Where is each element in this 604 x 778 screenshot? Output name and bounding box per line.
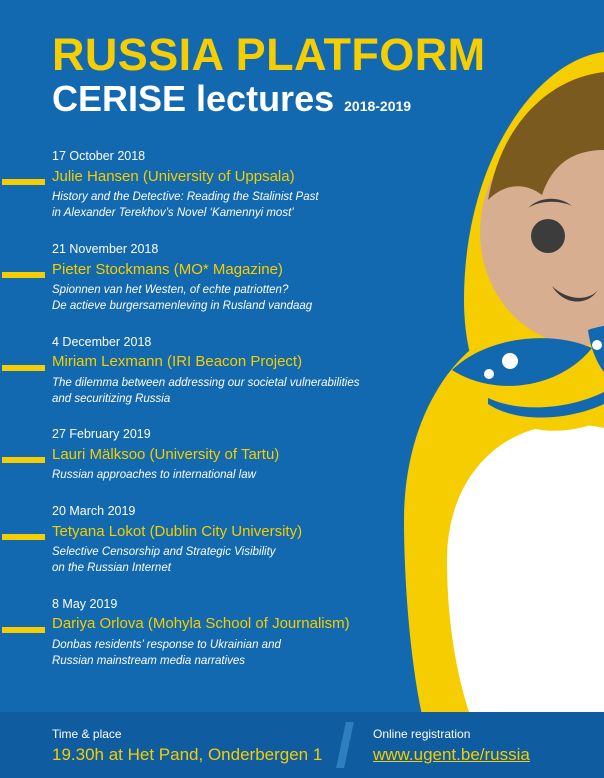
doll-body-shape [404,323,604,715]
lecture-date: 20 March 2019 [52,503,420,520]
lecture-date: 17 October 2018 [52,148,420,165]
lecture-speaker: Julie Hansen (University of Uppsala) [52,167,420,187]
doll-belly-panel [447,425,604,715]
doll-leaf-dot [484,369,494,379]
list-item: 8 May 2019 Dariya Orlova (Mohyla School … [0,596,420,670]
list-item: 21 November 2018 Pieter Stockmans (MO* M… [0,241,420,315]
registration-link[interactable]: www.ugent.be/russia [373,744,530,766]
lecture-date: 4 December 2018 [52,334,420,351]
time-and-place-block: Time & place 19.30h at Het Pand, Onderbe… [52,726,322,766]
lecture-speaker: Pieter Stockmans (MO* Magazine) [52,260,420,280]
lecture-date: 27 February 2019 [52,426,420,443]
slash-divider-icon [336,722,354,768]
doll-scarf-drape [464,290,604,431]
lecture-topic-line2: and securitizing Russia [52,391,420,407]
doll-leaf-motif-right [588,326,604,372]
doll-leaf-dot [592,340,602,350]
lecture-topic-line1: The dilemma between addressing our socie… [52,375,420,391]
list-item: 20 March 2019 Tetyana Lokot (Dublin City… [0,503,420,577]
doll-eyebrow [528,199,572,208]
doll-hair [488,72,604,200]
lecture-topic-line2: in Alexander Terekhov’s Novel ‘Kamennyi … [52,205,420,221]
subtitle-row: CERISE lectures 2018-2019 [52,80,452,118]
bullet-dash-icon [2,365,45,371]
page-subtitle: CERISE lectures [52,80,334,118]
bullet-dash-icon [2,272,45,278]
doll-mouth [552,286,598,302]
registration-label: Online registration [373,726,530,743]
doll-face [480,119,604,345]
doll-leaf-motif-left [452,338,592,386]
list-item: 27 February 2019 Lauri Mälksoo (Universi… [0,426,420,483]
lecture-topic-line2: De actieve burgersamenleving in Rusland … [52,298,420,314]
poster-canvas: RUSSIA PLATFORM CERISE lectures 2018-201… [0,0,604,778]
lecture-topic-line1: Donbas residents’ response to Ukrainian … [52,637,420,653]
poster-header: RUSSIA PLATFORM CERISE lectures 2018-201… [52,32,452,118]
lecture-topic-line1: Spionnen van het Westen, of echte patrio… [52,282,420,298]
season-years-badge: 2018-2019 [344,98,411,114]
poster-footer: Time & place 19.30h at Het Pand, Onderbe… [0,712,604,778]
list-item: 4 December 2018 Miriam Lexmann (IRI Beac… [0,334,420,408]
lecture-date: 8 May 2019 [52,596,420,613]
list-item: 17 October 2018 Julie Hansen (University… [0,148,420,222]
lecture-topic-line1: History and the Detective: Reading the S… [52,189,420,205]
bullet-dash-icon [2,627,45,633]
lecture-speaker: Miriam Lexmann (IRI Beacon Project) [52,352,420,372]
lecture-speaker: Lauri Mälksoo (University of Tartu) [52,445,420,465]
registration-block: Online registration www.ugent.be/russia [373,726,530,766]
lecture-topic-line1: Selective Censorship and Strategic Visib… [52,544,420,560]
doll-eye [531,219,565,253]
bullet-dash-icon [2,534,45,540]
lecture-speaker: Tetyana Lokot (Dublin City University) [52,522,420,542]
time-place-value: 19.30h at Het Pand, Onderbergen 1 [52,744,322,766]
doll-headscarf [464,52,604,300]
time-place-label: Time & place [52,726,322,743]
lecture-topic-line2: Russian mainstream media narratives [52,653,420,669]
lecture-speaker: Dariya Orlova (Mohyla School of Journali… [52,614,420,634]
bullet-dash-icon [2,179,45,185]
lecture-topic-line2: on the Russian Internet [52,560,420,576]
page-title: RUSSIA PLATFORM [52,32,452,78]
lecture-topic-line1: Russian approaches to international law [52,467,420,483]
doll-scarf-arc [488,392,604,418]
doll-leaf-dot [502,353,518,369]
lecture-date: 21 November 2018 [52,241,420,258]
bullet-dash-icon [2,457,45,463]
lecture-list: 17 October 2018 Julie Hansen (University… [0,148,420,688]
